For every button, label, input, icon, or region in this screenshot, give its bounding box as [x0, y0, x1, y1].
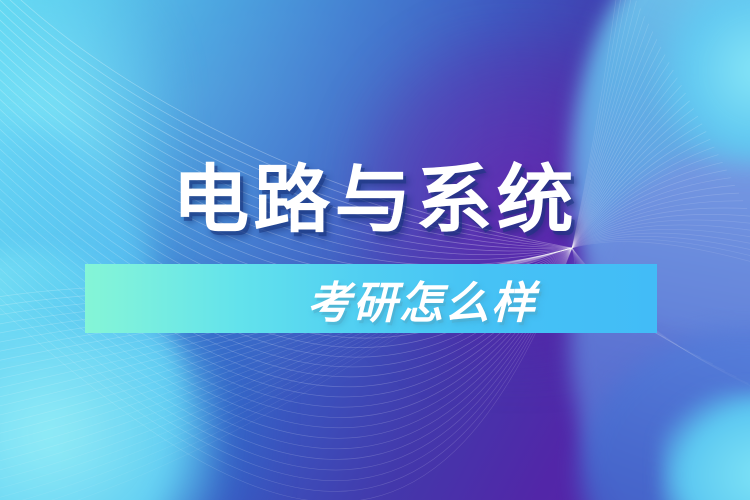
right-bottom-cyan-blob	[660, 390, 750, 500]
subtitle-text: 考研怎么样	[307, 267, 537, 331]
right-top-cyan-blob	[660, 0, 750, 170]
page-title: 电路与系统	[0, 150, 750, 250]
subtitle-bar: 考研怎么样	[85, 264, 657, 333]
left-wave-shape-3	[0, 330, 220, 500]
promo-banner: 电路与系统 考研怎么样	[0, 0, 750, 500]
